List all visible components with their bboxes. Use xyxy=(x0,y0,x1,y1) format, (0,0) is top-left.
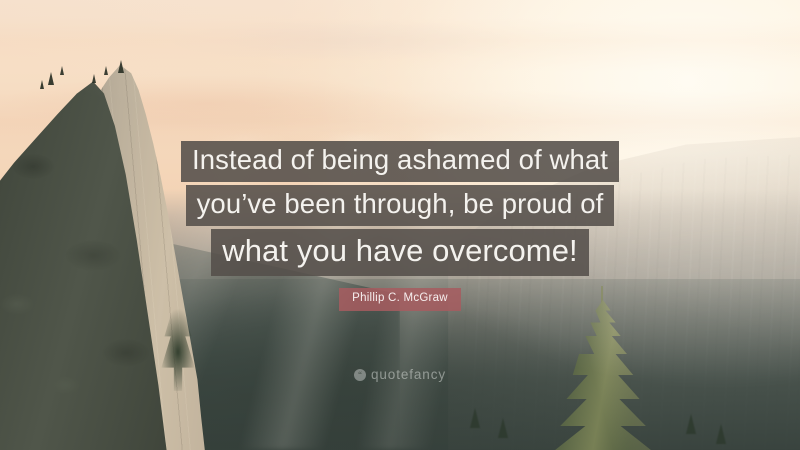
ridge-tree xyxy=(48,72,54,85)
ridge-tree xyxy=(92,74,96,83)
quote-image-canvas: Instead of being ashamed of what you’ve … xyxy=(0,0,800,450)
valley-tree xyxy=(498,418,508,438)
valley-tree xyxy=(470,408,480,428)
quote-line-1: Instead of being ashamed of what xyxy=(181,141,619,182)
spruce-sun-highlight xyxy=(540,300,666,450)
ridge-tree xyxy=(60,66,64,75)
quote-line-2: you’ve been through, be proud of xyxy=(186,185,615,226)
ridge-tree xyxy=(118,60,124,73)
author-name-badge: Phillip C. McGraw xyxy=(339,288,461,311)
quote-text-block: Instead of being ashamed of what you’ve … xyxy=(0,141,800,276)
valley-tree xyxy=(716,424,726,444)
foreground-spruce-tree xyxy=(540,300,666,450)
ridge-tree xyxy=(104,66,108,75)
valley-tree xyxy=(686,414,696,434)
quote-line-3: what you have overcome! xyxy=(211,229,589,276)
ridge-tree xyxy=(40,80,44,89)
author-attribution: Phillip C. McGraw xyxy=(0,288,800,311)
